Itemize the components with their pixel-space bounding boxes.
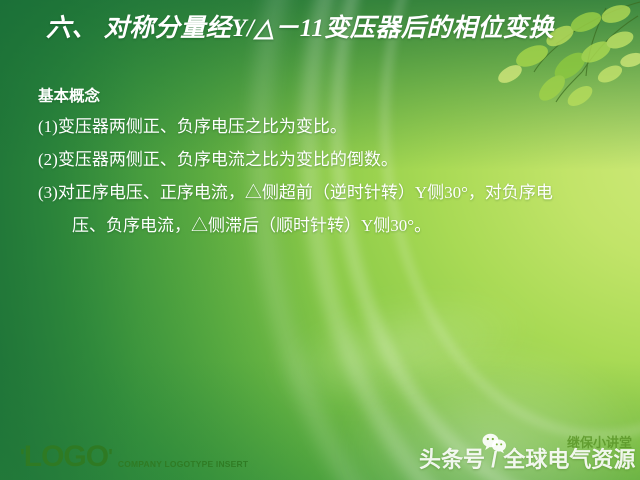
body-item-1: (1)变压器两侧正、负序电压之比为变比。 [38,110,620,143]
body-item-2: (2)变压器两侧正、负序电流之比为变比的倒数。 [38,143,620,176]
presentation-slide: 六、 对称分量经Y/△－11变压器后的相位变换 基本概念 (1)变压器两侧正、负… [0,0,640,480]
slide-body: 基本概念 (1)变压器两侧正、负序电压之比为变比。 (2)变压器两侧正、负序电流… [38,84,620,242]
logo-text: LOGO [24,440,108,473]
body-item-3-continued: 压、负序电流，△侧滞后（顺时针转）Y侧30°。 [38,209,620,242]
slide-title: 六、 对称分量经Y/△－11变压器后的相位变换 [46,8,554,44]
footer-logo: 'LOGO' COMPANY LOGOTYPE INSERT [20,442,248,472]
logo-wordmark: 'LOGO' [20,442,112,472]
body-item-3: (3)对正序电压、正序电流，△侧超前（逆时针转）Y侧30°，对负序电 [38,176,620,209]
body-heading: 基本概念 [38,84,620,110]
logo-subtitle: COMPANY LOGOTYPE INSERT [118,459,248,472]
watermark-main-text: 头条号 / 全球电气资源 [419,442,635,474]
logo-quote-right: ' [108,446,112,468]
watermark: 继保小讲堂 头条号 / 全球电气资源 [419,434,634,476]
